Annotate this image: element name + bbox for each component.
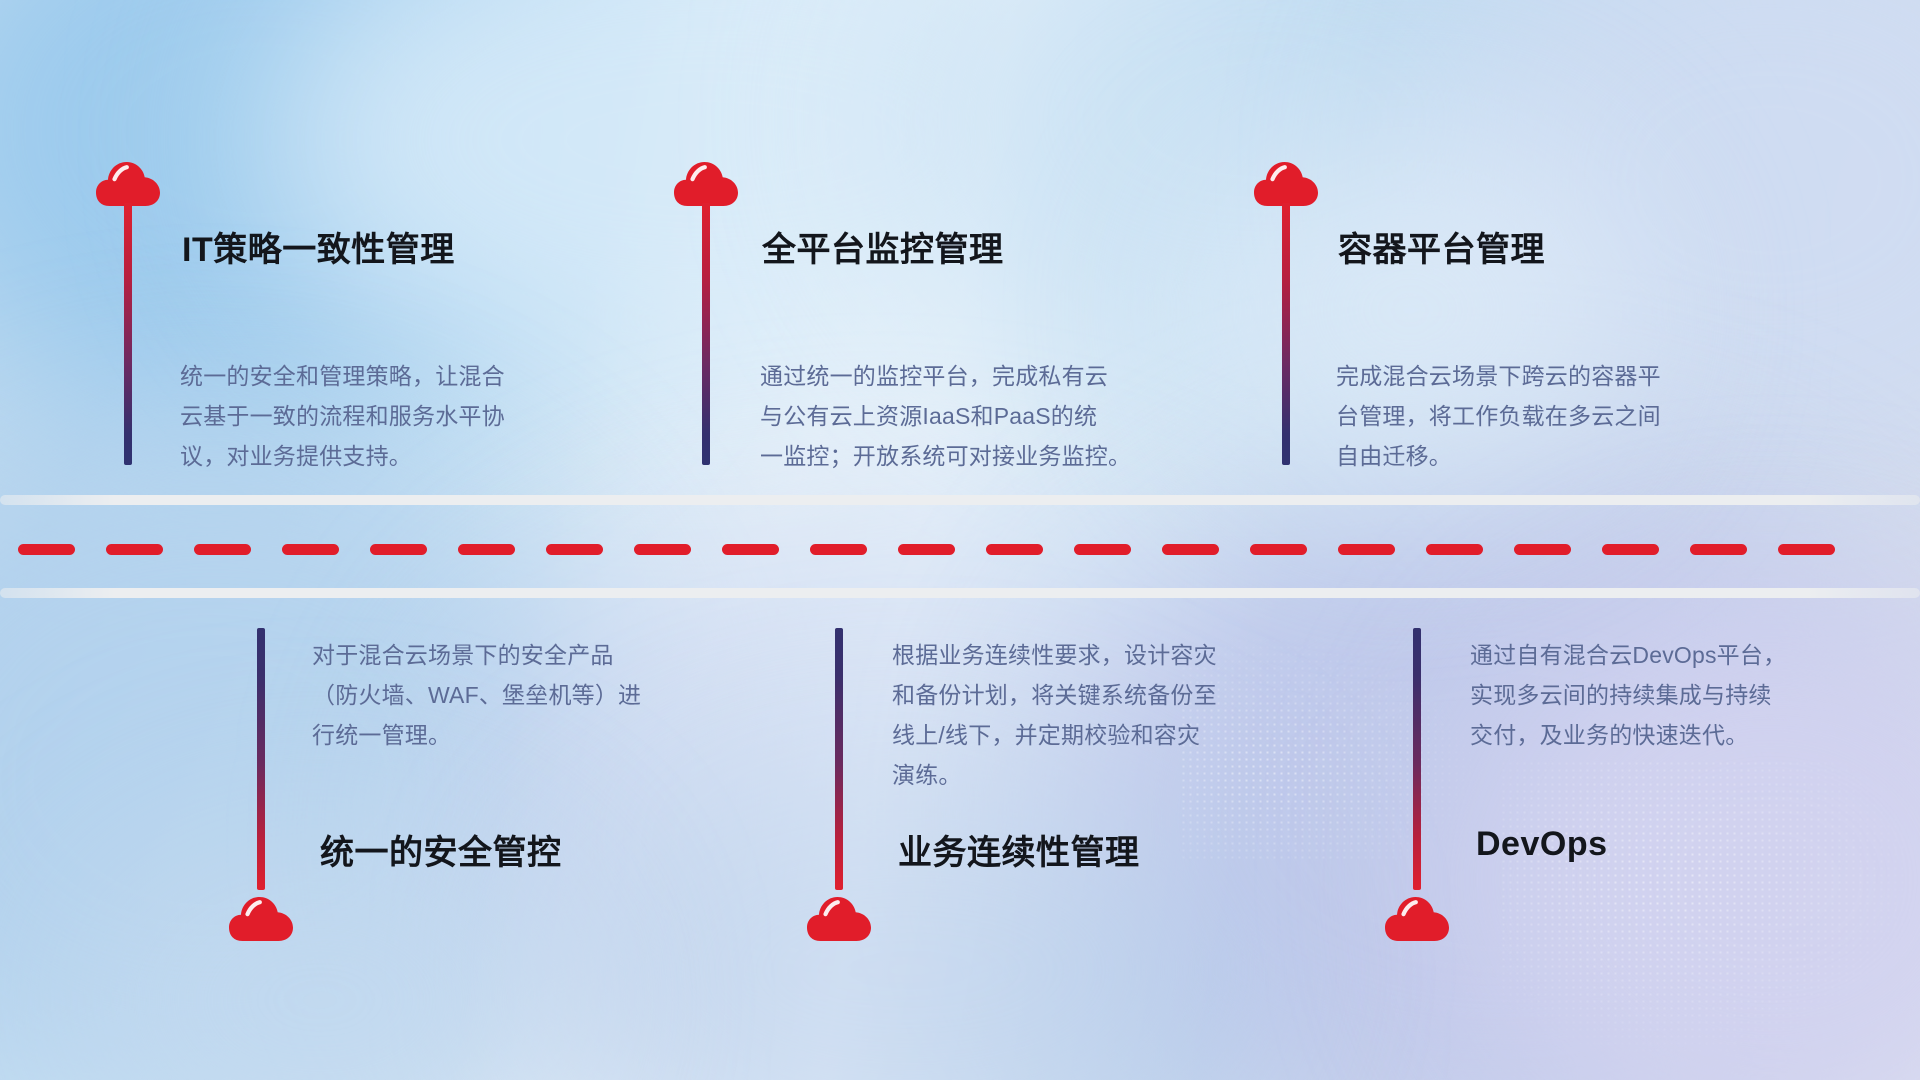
divider-dash — [106, 544, 163, 555]
divider-dash — [722, 544, 779, 555]
cloud-icon — [1253, 160, 1319, 208]
divider-dash — [986, 544, 1043, 555]
cloud-icon — [806, 895, 872, 943]
cloud-icon — [673, 160, 739, 208]
cloud-icon — [228, 895, 294, 943]
dot-texture-right — [1500, 760, 1920, 1060]
bottom-column-2-heading: 业务连续性管理 — [898, 825, 1140, 874]
divider-dash — [1514, 544, 1571, 555]
divider-dash — [1690, 544, 1747, 555]
connector-stem — [702, 203, 710, 465]
bottom-column-1-heading: 统一的安全管控 — [320, 825, 562, 874]
connector-stem — [257, 628, 265, 890]
bottom-column-2-body: 根据业务连续性要求，设计容灾 和备份计划，将关键系统备份至 线上/线下，并定期校… — [892, 635, 1337, 795]
top-column-2-body: 通过统一的监控平台，完成私有云 与公有云上资源IaaS和PaaS的统 一监控；开… — [760, 356, 1210, 476]
bottom-column-1-body: 对于混合云场景下的安全产品 （防火墙、WAF、堡垒机等）进 行统一管理。 — [312, 635, 752, 755]
divider-dash — [1426, 544, 1483, 555]
divider-dash — [1338, 544, 1395, 555]
divider-dash — [370, 544, 427, 555]
top-column-1-heading: IT策略一致性管理 — [182, 222, 455, 271]
cloud-icon — [95, 160, 161, 208]
cloud-icon — [1384, 895, 1450, 943]
divider-dash — [18, 544, 75, 555]
divider-dash — [1602, 544, 1659, 555]
divider-dash — [634, 544, 691, 555]
top-column-1-body: 统一的安全和管理策略，让混合 云基于一致的流程和服务水平协 议，对业务提供支持。 — [180, 356, 610, 476]
divider-dash — [458, 544, 515, 555]
top-column-3-body: 完成混合云场景下跨云的容器平 台管理，将工作负载在多云之间 自由迁移。 — [1336, 356, 1786, 476]
connector-stem — [1413, 628, 1421, 890]
connector-stem — [124, 203, 132, 465]
connector-stem — [1282, 203, 1290, 465]
top-column-2-heading: 全平台监控管理 — [762, 222, 1004, 271]
divider-dash — [194, 544, 251, 555]
divider-dash — [1778, 544, 1835, 555]
divider-dash — [1250, 544, 1307, 555]
bottom-column-3-heading: DevOps — [1476, 825, 1608, 864]
divider-dash — [1162, 544, 1219, 555]
divider-rail-bottom — [0, 588, 1920, 598]
divider-dash — [810, 544, 867, 555]
divider-rail-top — [0, 495, 1920, 505]
divider-dash — [1074, 544, 1131, 555]
divider-dash — [282, 544, 339, 555]
divider-dashed-line — [0, 543, 1920, 555]
bottom-column-3-body: 通过自有混合云DevOps平台， 实现多云间的持续集成与持续 交付，及业务的快速… — [1470, 635, 1915, 755]
top-column-3-heading: 容器平台管理 — [1338, 222, 1545, 271]
divider-dash — [898, 544, 955, 555]
divider-dash — [546, 544, 603, 555]
connector-stem — [835, 628, 843, 890]
